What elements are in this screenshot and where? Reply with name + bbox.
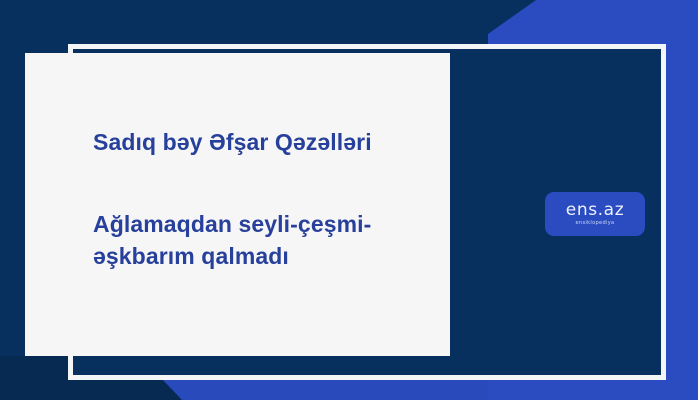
share-card: Sadıq bəy Əfşar Qəzəlləri Ağlamaqdan sey… <box>0 0 698 400</box>
text-block: Sadıq bəy Əfşar Qəzəlləri Ağlamaqdan sey… <box>93 126 423 272</box>
page-subtitle: Ağlamaqdan seyli-çeşmi-əşkbarım qalmadı <box>93 208 423 272</box>
page-title: Sadıq bəy Əfşar Qəzəlləri <box>93 126 423 158</box>
logo-tagline: ensiklopediya <box>576 220 615 227</box>
ens-az-logo-badge[interactable]: ens.az ensiklopediya <box>545 192 645 236</box>
logo-wordmark: ens.az <box>566 202 624 219</box>
